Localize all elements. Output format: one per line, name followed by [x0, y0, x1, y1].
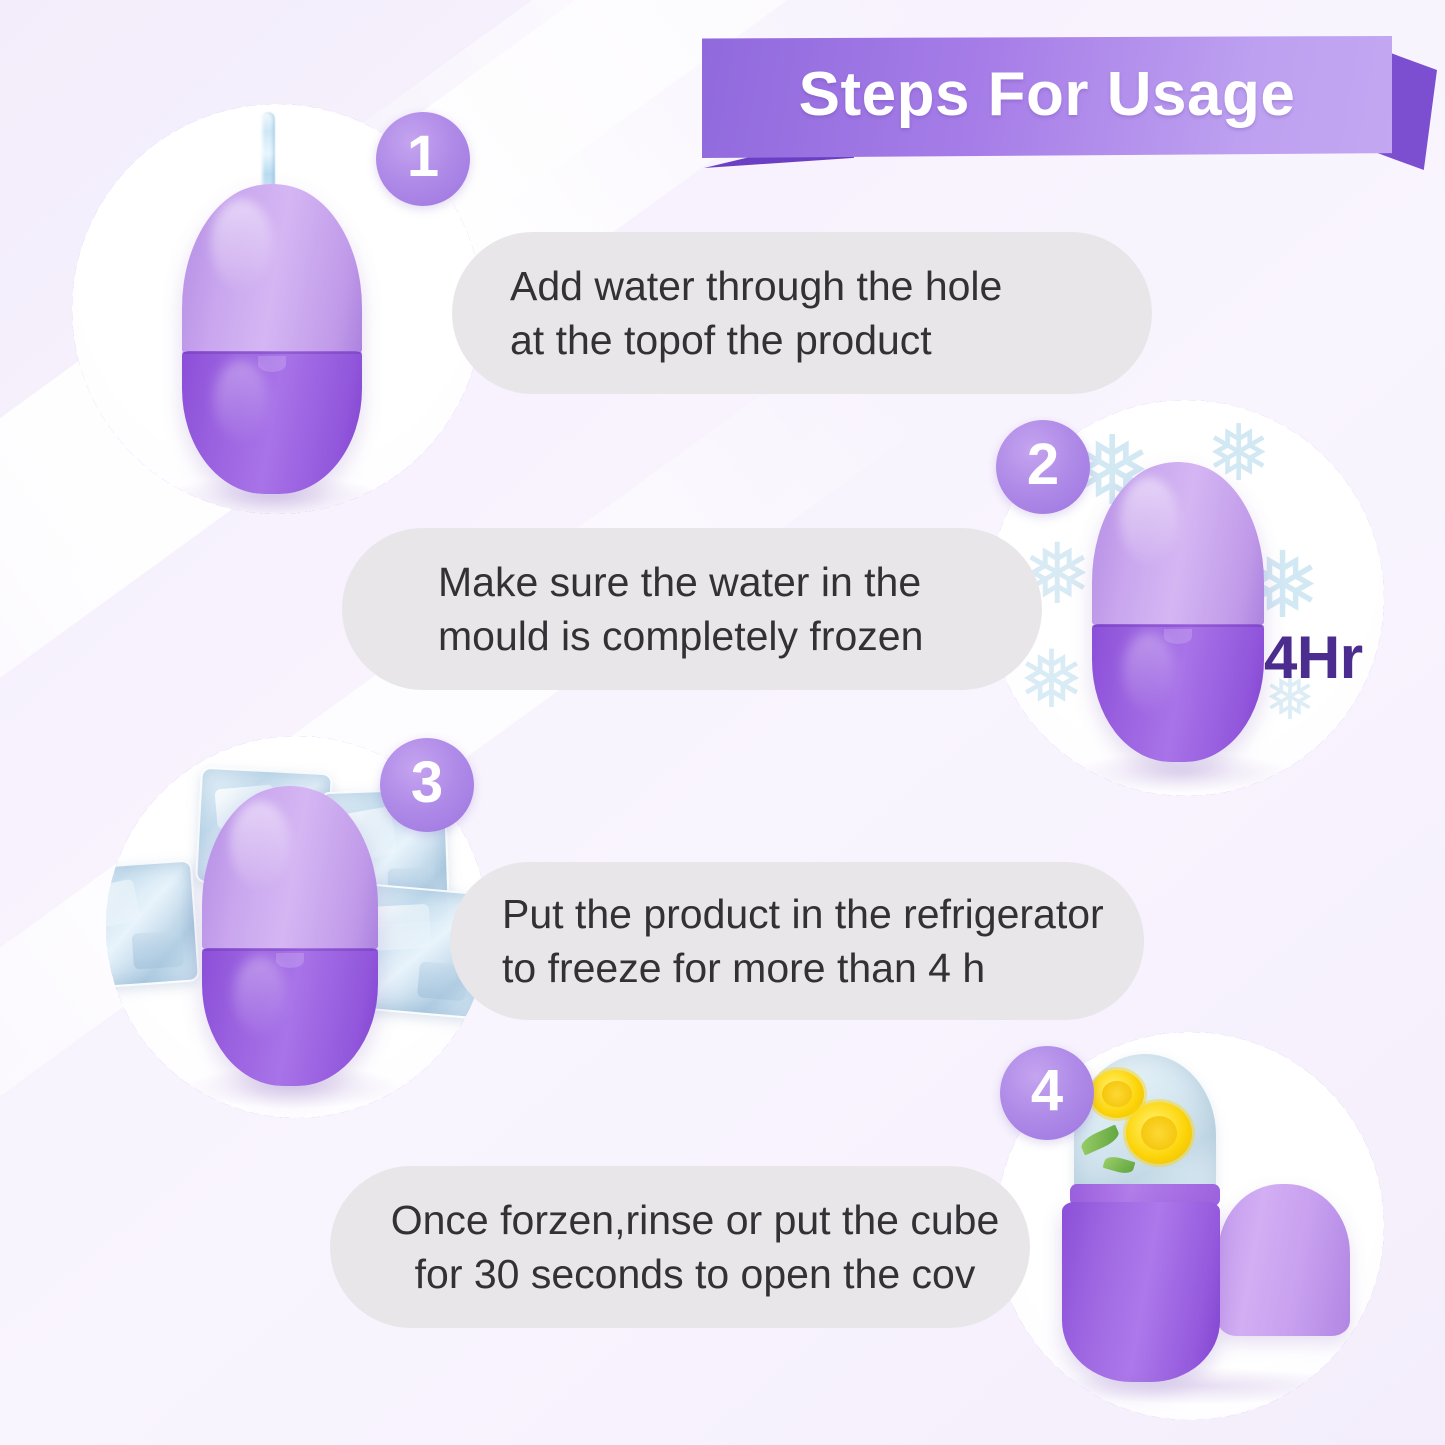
- product-capsule: [202, 786, 378, 1086]
- step-1-caption: Add water through the hole at the topof …: [510, 259, 1002, 367]
- ice-dome: [1074, 1054, 1216, 1194]
- four-hour-label: 4Hr: [1264, 628, 1363, 688]
- capsule-notch: [258, 356, 287, 372]
- capsule-seam: [182, 352, 362, 354]
- capsule-body: [182, 351, 362, 494]
- leaf-icon: [1103, 1154, 1136, 1176]
- capsule-notch: [276, 953, 304, 968]
- product-capsule: [1092, 462, 1264, 762]
- capsule-body: [1092, 624, 1264, 762]
- infographic-page: Steps For Usage 1 Add water through the …: [0, 0, 1445, 1445]
- step-1-number: 1: [407, 128, 439, 186]
- step-3-badge: 3: [380, 738, 474, 832]
- step-2-badge: 2: [996, 420, 1090, 514]
- step-1-badge: 1: [376, 112, 470, 206]
- step-4-number: 4: [1031, 1062, 1063, 1120]
- step-4-product-shadow: [1052, 1368, 1352, 1404]
- step-3-caption: Put the product in the refrigerator to f…: [502, 887, 1104, 995]
- step-4-badge: 4: [1000, 1046, 1094, 1140]
- step-3-caption-bubble: Put the product in the refrigerator to f…: [450, 862, 1144, 1020]
- step-4-caption: Once forzen,rinse or put the cube for 30…: [391, 1193, 1000, 1301]
- product-capsule: [182, 184, 362, 494]
- capsule-body: [202, 948, 378, 1086]
- capsule-seam: [1092, 625, 1264, 627]
- capsule-cap: [182, 184, 362, 355]
- header-ribbon: Steps For Usage: [702, 28, 1437, 183]
- step-2-caption-bubble: Make sure the water in the mould is comp…: [342, 528, 1042, 690]
- step-2-caption: Make sure the water in the mould is comp…: [438, 555, 923, 663]
- step-1-caption-bubble: Add water through the hole at the topof …: [452, 232, 1152, 394]
- page-title: Steps For Usage: [799, 64, 1296, 126]
- capsule-seam: [202, 949, 378, 951]
- leaf-icon: [1078, 1125, 1121, 1156]
- detached-cap: [1218, 1184, 1350, 1336]
- step-3-number: 3: [411, 754, 443, 812]
- capsule-notch: [1164, 629, 1192, 644]
- ribbon-banner: Steps For Usage: [702, 36, 1392, 158]
- jar-body: [1062, 1202, 1220, 1382]
- step-2-number: 2: [1027, 436, 1059, 494]
- flower-icon: [1126, 1102, 1192, 1164]
- step-4-caption-bubble: Once forzen,rinse or put the cube for 30…: [330, 1166, 1030, 1328]
- ice-cube-icon: [106, 859, 200, 990]
